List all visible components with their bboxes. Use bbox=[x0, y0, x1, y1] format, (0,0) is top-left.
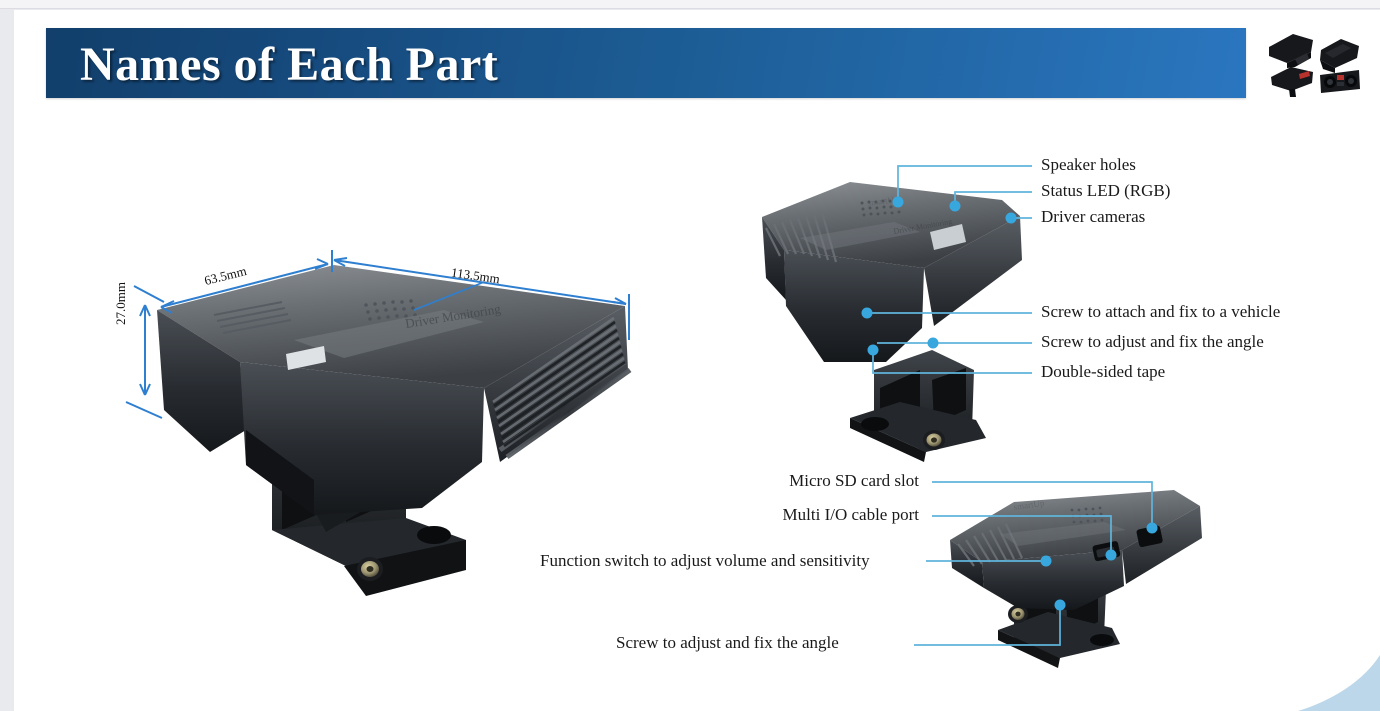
slide-canvas: Names of Each Part bbox=[14, 10, 1380, 711]
callout-label-status-led: Status LED (RGB) bbox=[1041, 182, 1170, 199]
product-views-thumbnail bbox=[1265, 25, 1365, 100]
window-top-strip bbox=[0, 0, 1380, 9]
callout-label-speaker-holes: Speaker holes bbox=[1041, 156, 1136, 173]
callout-label-micro-sd: Micro SD card slot bbox=[759, 472, 919, 489]
svg-text:smartUp: smartUp bbox=[867, 194, 900, 208]
callout-label-multi-io: Multi I/O cable port bbox=[749, 506, 919, 523]
callout-label-screw-angle-top: Screw to adjust and fix the angle bbox=[1041, 333, 1264, 350]
dashcam-body-left: Driver Monitoring bbox=[157, 265, 630, 515]
callout-label-screw-vehicle: Screw to attach and fix to a vehicle bbox=[1041, 303, 1280, 320]
dimension-length: 113.5mm bbox=[450, 265, 501, 288]
dimension-depth: 63.5mm bbox=[203, 263, 249, 289]
callout-label-driver-cameras: Driver cameras bbox=[1041, 208, 1145, 225]
page-background: Names of Each Part bbox=[0, 0, 1380, 711]
corner-decoration bbox=[1298, 655, 1380, 711]
callout-leader-lines bbox=[867, 166, 1152, 645]
callout-label-function-switch: Function switch to adjust volume and sen… bbox=[534, 549, 876, 572]
slide-title-bar: Names of Each Part bbox=[46, 28, 1246, 98]
left-product-photo: Driver Monitoring bbox=[14, 10, 1380, 711]
dimension-arrows-left bbox=[126, 250, 629, 418]
top-right-product-photo: Driver Monitoring smartUp bbox=[762, 182, 1022, 462]
svg-text:Driver Monitoring: Driver Monitoring bbox=[404, 301, 502, 331]
bottom-right-product-photo: smartUp bbox=[950, 490, 1202, 668]
callout-label-double-sided-tape: Double-sided tape bbox=[1041, 363, 1165, 380]
callout-dots bbox=[862, 197, 1158, 611]
page-title: Names of Each Part bbox=[80, 37, 498, 92]
svg-text:Driver Monitoring: Driver Monitoring bbox=[893, 217, 953, 236]
svg-text:smartUp: smartUp bbox=[1013, 498, 1046, 512]
mount-bracket-left bbox=[272, 402, 466, 596]
dimension-height: 27.0mm bbox=[113, 282, 129, 325]
callout-label-screw-angle-bottom: Screw to adjust and fix the angle bbox=[616, 634, 839, 651]
